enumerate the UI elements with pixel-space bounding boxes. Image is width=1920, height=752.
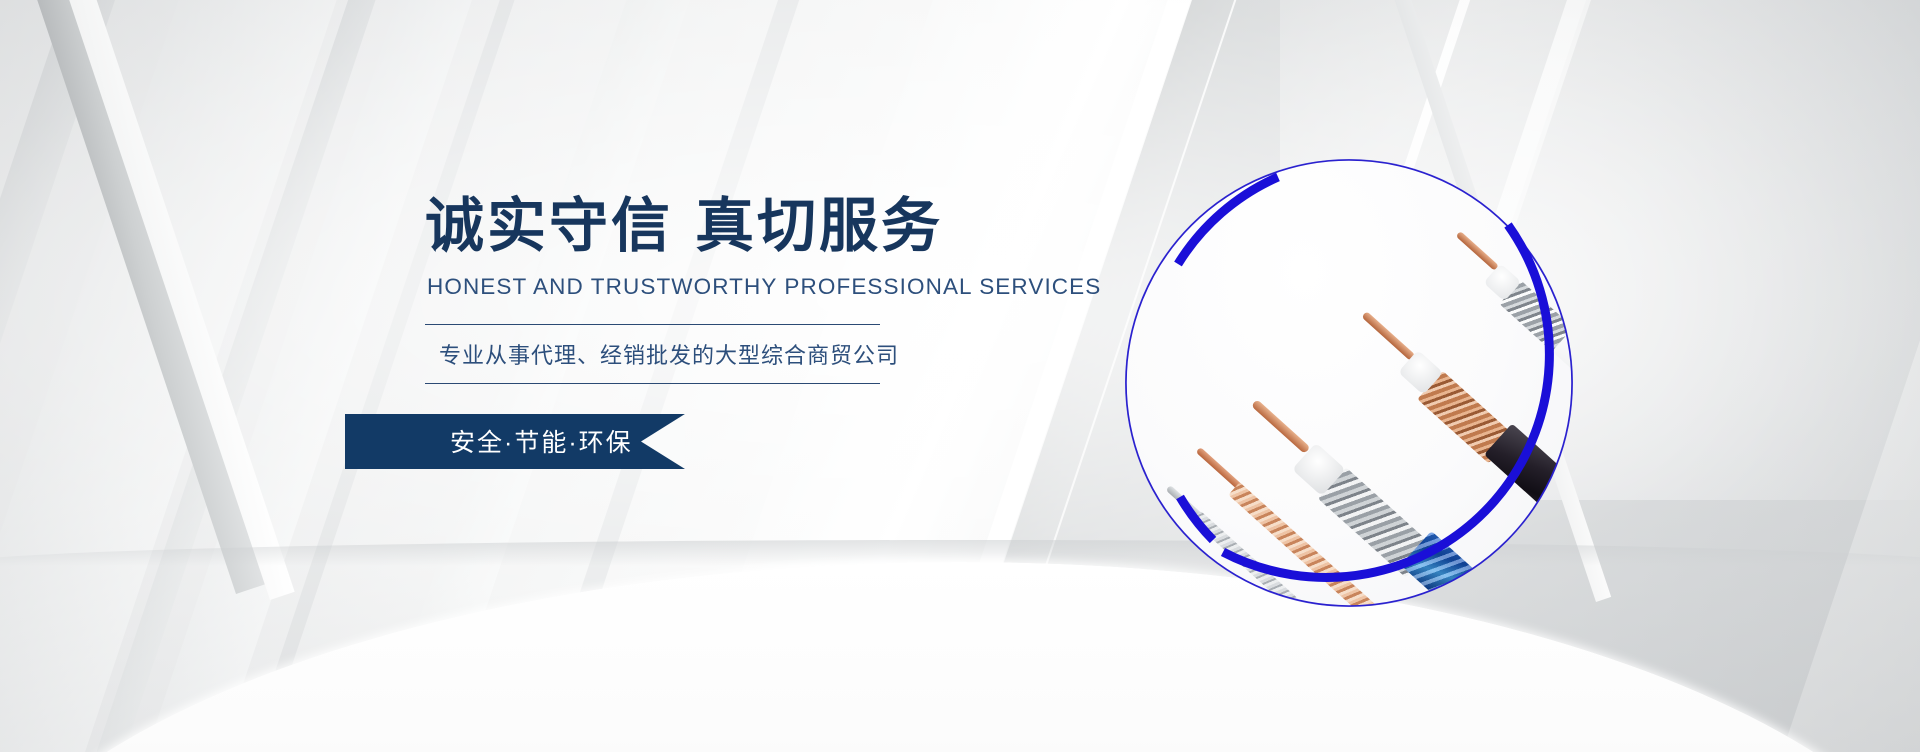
- feature-ribbon-badge: 安全·节能·环保: [345, 414, 685, 469]
- divider-rule-bottom: [425, 383, 880, 384]
- product-photo-circle: /\|/| \—\ヽ: [1118, 152, 1580, 614]
- ring-thick-arc-topleft-icon: [1178, 177, 1278, 264]
- banner-text-block: 诚实守信真切服务 HONEST AND TRUSTWORTHY PROFESSI…: [425, 196, 1085, 469]
- banner-subtitle-english: HONEST AND TRUSTWORTHY PROFESSIONAL SERV…: [427, 274, 1085, 300]
- ring-thick-arc-right-icon: [1223, 225, 1549, 577]
- subtitle-rule-group: 专业从事代理、经销批发的大型综合商贸公司: [425, 324, 880, 384]
- ribbon-label: 安全·节能·环保: [345, 423, 633, 459]
- banner-headline: 诚实守信真切服务: [425, 196, 1085, 258]
- headline-part-1: 诚实守信: [425, 193, 673, 259]
- banner-stage: 诚实守信真切服务 HONEST AND TRUSTWORTHY PROFESSI…: [0, 0, 1920, 752]
- banner-subtitle-chinese: 专业从事代理、经销批发的大型综合商贸公司: [425, 325, 880, 383]
- ring-thin-outline-icon: [1126, 160, 1572, 606]
- headline-part-2: 真切服务: [695, 193, 943, 259]
- decorative-ring-group: [1118, 152, 1580, 614]
- ribbon-chevron-notch-icon: [641, 414, 685, 469]
